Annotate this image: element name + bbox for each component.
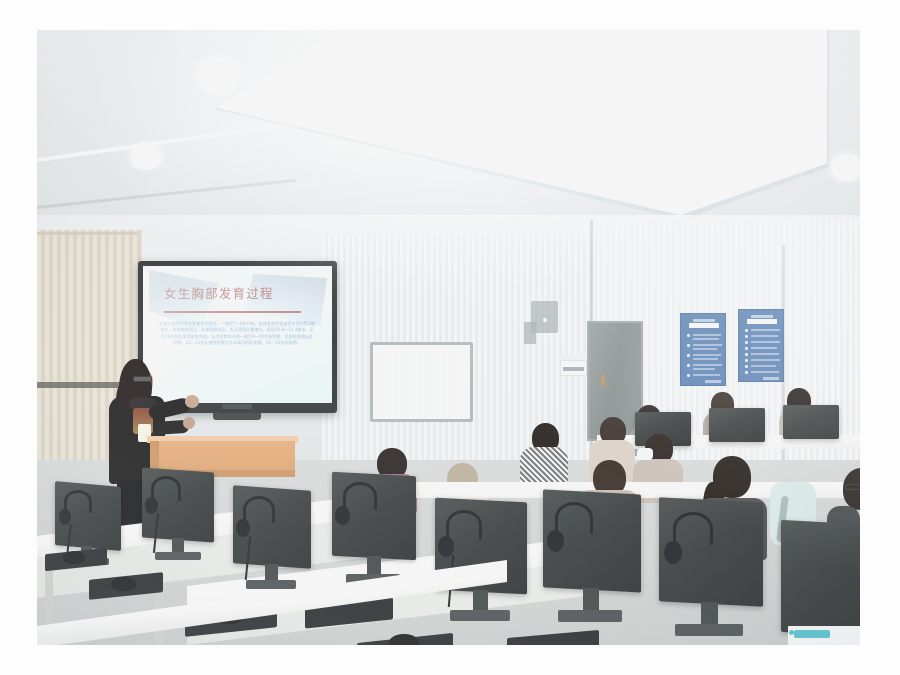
desk-leg	[45, 570, 53, 628]
headset-icon[interactable]	[555, 502, 593, 534]
display-logo	[222, 404, 252, 409]
monitor-base	[450, 610, 510, 621]
headset-icon[interactable]	[446, 510, 482, 540]
poster-subheading	[693, 319, 715, 322]
headset-earcup-icon	[59, 509, 71, 525]
headset-earcup-icon	[145, 497, 158, 514]
wall-poster	[680, 313, 726, 386]
poster-line	[751, 371, 779, 373]
headset-icon[interactable]	[343, 482, 377, 510]
monitor[interactable]	[783, 405, 839, 439]
monitor-stand	[701, 602, 718, 626]
door-sign-text	[563, 367, 584, 371]
downlight-icon	[192, 58, 244, 92]
eyeglasses-icon	[845, 484, 860, 490]
poster-bullet-icon	[687, 374, 690, 377]
display-mount	[213, 413, 261, 420]
monitor[interactable]	[709, 408, 765, 442]
poster-heading	[689, 323, 719, 328]
poster-heading	[747, 319, 777, 324]
wall-trim-left	[37, 232, 137, 235]
wall-poster	[738, 309, 784, 382]
poster-line	[693, 334, 721, 336]
mouse[interactable]	[63, 551, 85, 564]
poster-line	[751, 365, 776, 367]
poster-bullet-icon	[687, 364, 690, 367]
poster-bullet-icon	[687, 344, 690, 347]
poster-bullet-icon	[745, 335, 748, 338]
screen-glare	[143, 266, 332, 403]
presenter-hand	[185, 395, 199, 408]
poster-line	[693, 338, 719, 340]
poster-footer	[763, 377, 779, 380]
poster-bullet-icon	[687, 334, 690, 337]
wall-speaker-bracket	[524, 322, 536, 344]
headset-earcup-icon	[438, 536, 454, 557]
monitor[interactable]	[781, 520, 860, 636]
presenter-hand	[183, 417, 195, 429]
poster-line	[693, 364, 722, 366]
headset-icon[interactable]	[151, 476, 181, 501]
poster-line	[751, 359, 780, 361]
whiteboard-surface[interactable]	[374, 346, 469, 418]
headset-earcup-icon	[547, 530, 564, 552]
headset-icon[interactable]	[243, 496, 275, 523]
poster-line	[751, 341, 780, 343]
downlight-icon	[827, 154, 860, 182]
poster-subheading	[751, 315, 773, 318]
poster-bullet-icon	[745, 347, 748, 350]
poster-line	[751, 329, 780, 331]
headset-earcup-icon	[335, 506, 350, 525]
monitor-ui-dot-icon	[789, 630, 794, 635]
face-mask-icon	[637, 448, 653, 460]
poster-line	[693, 358, 718, 360]
poster-line	[693, 344, 722, 346]
monitor-base	[675, 624, 743, 636]
poster-line	[693, 348, 717, 350]
poster-bullet-icon	[745, 371, 748, 374]
monitor-stand	[583, 588, 599, 612]
headset-icon[interactable]	[673, 512, 713, 545]
poster-line	[751, 347, 777, 349]
poster-line	[751, 335, 778, 337]
poster-bullet-icon	[745, 341, 748, 344]
monitor-base	[558, 610, 622, 622]
speaker-led-icon	[543, 318, 547, 322]
monitor-base	[246, 580, 296, 589]
poster-line	[693, 374, 720, 376]
poster-bullet-icon	[745, 353, 748, 356]
poster-line	[693, 354, 721, 356]
mouse[interactable]	[111, 577, 136, 591]
poster-line	[751, 353, 779, 355]
headset-earcup-icon	[664, 541, 682, 564]
headset-earcup-icon	[236, 519, 250, 537]
poster-footer	[705, 380, 721, 383]
poster-bullet-icon	[745, 329, 748, 332]
classroom-photo: 女生胸部发育过程 乳房与女性的生长发育密切相关，一般在7～8岁开始，女孩乳房开始…	[37, 30, 860, 645]
poster-bullet-icon	[745, 359, 748, 362]
eyeglasses-icon	[133, 376, 152, 382]
poster-line	[693, 368, 715, 370]
photo-frame: 女生胸部发育过程 乳房与女性的生长发育密切相关，一般在7～8岁开始，女孩乳房开始…	[0, 0, 900, 675]
poster-bullet-icon	[745, 365, 748, 368]
mouse[interactable]	[389, 634, 419, 645]
monitor-stand	[367, 556, 381, 576]
downlight-icon	[125, 142, 167, 170]
monitor-stand	[473, 590, 488, 612]
monitor-ui-highlight	[794, 630, 830, 638]
monitor-base	[155, 552, 201, 560]
door-handle-icon[interactable]	[601, 375, 605, 386]
poster-bullet-icon	[687, 354, 690, 357]
